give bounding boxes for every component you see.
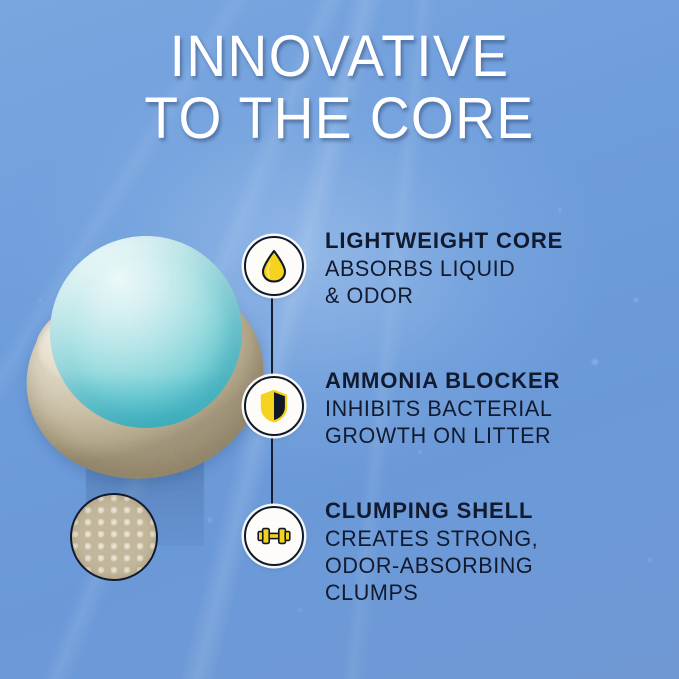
feature-desc-3: CREATES STRONG, ODOR-ABSORBING CLUMPS: [325, 525, 662, 606]
droplet-icon: [259, 249, 289, 283]
infographic-canvas: INNOVATIVE TO THE CORE: [0, 0, 679, 679]
connector-line-1: [271, 292, 273, 374]
feature-title-2: AMMONIA BLOCKER: [325, 368, 662, 393]
feature-badge-3: [244, 506, 304, 566]
connector-line-2: [271, 432, 273, 504]
feature-desc-1: ABSORBS LIQUID & ODOR: [325, 255, 662, 309]
feature-item-2: AMMONIA BLOCKER INHIBITS BACTERIAL GROWT…: [325, 368, 669, 449]
feature-item-3: CLUMPING SHELL CREATES STRONG, ODOR-ABSO…: [325, 498, 669, 606]
feature-list: LIGHTWEIGHT CORE ABSORBS LIQUID & ODOR A…: [0, 0, 679, 679]
shield-icon: [259, 389, 289, 423]
feature-item-1: LIGHTWEIGHT CORE ABSORBS LIQUID & ODOR: [325, 228, 669, 309]
feature-badge-1: [244, 236, 304, 296]
dumbbell-icon: [256, 524, 292, 548]
feature-desc-2: INHIBITS BACTERIAL GROWTH ON LITTER: [325, 395, 662, 449]
feature-badge-2: [244, 376, 304, 436]
feature-title-3: CLUMPING SHELL: [325, 498, 662, 523]
feature-title-1: LIGHTWEIGHT CORE: [325, 228, 662, 253]
